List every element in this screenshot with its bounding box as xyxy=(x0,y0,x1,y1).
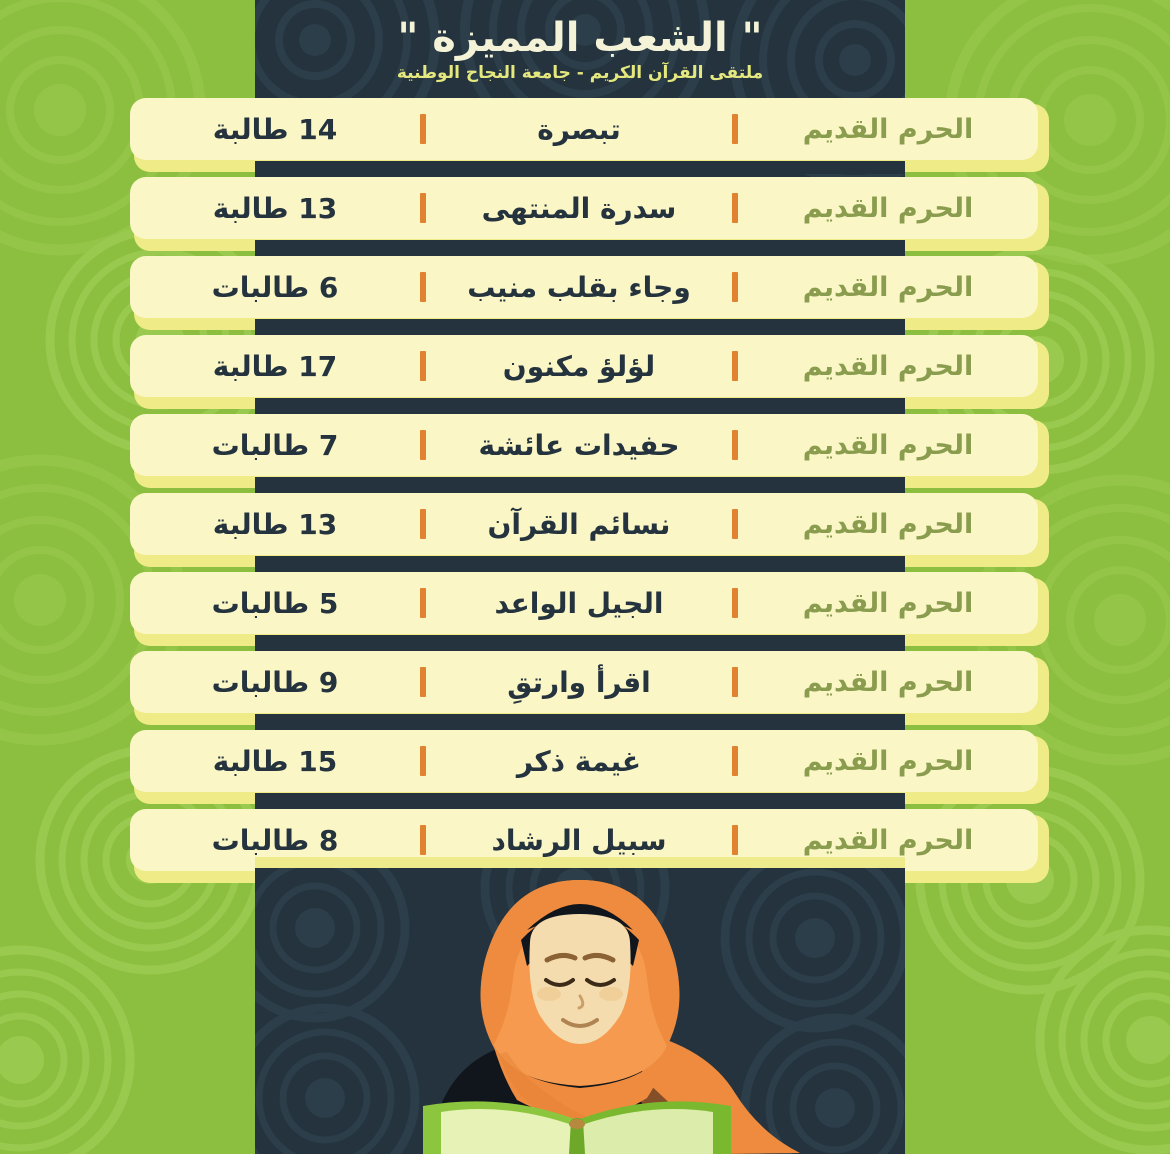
row-card[interactable]: الحرم القديمالجيل الواعد5 طالبات xyxy=(130,572,1045,640)
row-place: الحرم القديم xyxy=(738,430,1038,461)
row-card-face[interactable]: الحرم القديمالجيل الواعد5 طالبات xyxy=(130,572,1038,634)
row-divider xyxy=(255,398,905,411)
row-divider xyxy=(255,161,905,174)
table-row[interactable]: الحرم القديمتبصرة14 طالبة xyxy=(0,96,1170,175)
poster-root: " الشعب المميزة " ملتقى القرآن الكريم - … xyxy=(0,0,1170,1154)
row-place: الحرم القديم xyxy=(738,509,1038,540)
row-student-count: 7 طالبات xyxy=(130,429,420,462)
row-divider xyxy=(255,240,905,253)
page-subtitle: ملتقى القرآن الكريم - جامعة النجاح الوطن… xyxy=(397,63,763,83)
row-place: الحرم القديم xyxy=(738,667,1038,698)
row-group-name: لؤلؤ مكنون xyxy=(426,350,732,383)
column-separator-icon xyxy=(732,272,738,302)
column-separator-icon xyxy=(420,272,426,302)
column-separator-icon xyxy=(732,114,738,144)
row-card-face[interactable]: الحرم القديمنسائم القرآن13 طالبة xyxy=(130,493,1038,555)
row-divider xyxy=(255,793,905,806)
table-row[interactable]: الحرم القديمسدرة المنتهى13 طالبة xyxy=(0,175,1170,254)
table-row[interactable]: الحرم القديمنسائم القرآن13 طالبة xyxy=(0,491,1170,570)
column-separator-icon xyxy=(732,351,738,381)
row-place: الحرم القديم xyxy=(738,588,1038,619)
table-row[interactable]: الحرم القديموجاء بقلب منيب6 طالبات xyxy=(0,254,1170,333)
column-separator-icon xyxy=(420,114,426,144)
row-divider xyxy=(255,477,905,490)
row-student-count: 8 طالبات xyxy=(130,824,420,857)
column-separator-icon xyxy=(732,825,738,855)
row-group-name: نسائم القرآن xyxy=(426,508,732,541)
column-separator-icon xyxy=(732,588,738,618)
column-separator-icon xyxy=(420,351,426,381)
row-student-count: 15 طالبة xyxy=(130,745,420,778)
row-divider xyxy=(255,556,905,569)
row-card[interactable]: الحرم القديمتبصرة14 طالبة xyxy=(130,98,1045,166)
illustration-woman-reading xyxy=(255,868,905,1154)
row-card[interactable]: الحرم القديماقرأ وارتقِ9 طالبات xyxy=(130,651,1045,719)
page-title: " الشعب المميزة " xyxy=(398,17,763,59)
header: " الشعب المميزة " ملتقى القرآن الكريم - … xyxy=(255,0,905,96)
row-student-count: 17 طالبة xyxy=(130,350,420,383)
row-divider xyxy=(255,635,905,648)
row-group-name: اقرأ وارتقِ xyxy=(426,666,732,699)
column-separator-icon xyxy=(420,667,426,697)
row-group-name: سبيل الرشاد xyxy=(426,824,732,857)
row-divider xyxy=(255,319,905,332)
row-group-name: سدرة المنتهى xyxy=(426,192,732,225)
row-student-count: 13 طالبة xyxy=(130,192,420,225)
row-place: الحرم القديم xyxy=(738,746,1038,777)
row-place: الحرم القديم xyxy=(738,825,1038,856)
row-group-name: وجاء بقلب منيب xyxy=(426,271,732,304)
table-row[interactable]: الحرم القديمحفيدات عائشة7 طالبات xyxy=(0,412,1170,491)
row-student-count: 9 طالبات xyxy=(130,666,420,699)
column-separator-icon xyxy=(732,667,738,697)
row-card-face[interactable]: الحرم القديموجاء بقلب منيب6 طالبات xyxy=(130,256,1038,318)
row-card[interactable]: الحرم القديموجاء بقلب منيب6 طالبات xyxy=(130,256,1045,324)
row-place: الحرم القديم xyxy=(738,193,1038,224)
column-separator-icon xyxy=(420,509,426,539)
row-card-face[interactable]: الحرم القديمتبصرة14 طالبة xyxy=(130,98,1038,160)
row-student-count: 6 طالبات xyxy=(130,271,420,304)
table-row[interactable]: الحرم القديمالجيل الواعد5 طالبات xyxy=(0,570,1170,649)
row-student-count: 5 طالبات xyxy=(130,587,420,620)
row-group-name: غيمة ذكر xyxy=(426,745,732,778)
table-row[interactable]: الحرم القديملؤلؤ مكنون17 طالبة xyxy=(0,333,1170,412)
column-separator-icon xyxy=(732,746,738,776)
row-card-face[interactable]: الحرم القديماقرأ وارتقِ9 طالبات xyxy=(130,651,1038,713)
row-student-count: 13 طالبة xyxy=(130,508,420,541)
column-separator-icon xyxy=(420,430,426,460)
row-card[interactable]: الحرم القديمغيمة ذكر15 طالبة xyxy=(130,730,1045,798)
column-separator-icon xyxy=(732,430,738,460)
row-place: الحرم القديم xyxy=(738,114,1038,145)
column-separator-icon xyxy=(420,588,426,618)
row-place: الحرم القديم xyxy=(738,351,1038,382)
row-card[interactable]: الحرم القديمسدرة المنتهى13 طالبة xyxy=(130,177,1045,245)
row-card[interactable]: الحرم القديملؤلؤ مكنون17 طالبة xyxy=(130,335,1045,403)
row-card-face[interactable]: الحرم القديمغيمة ذكر15 طالبة xyxy=(130,730,1038,792)
illustration-top-strip xyxy=(255,857,905,868)
row-card[interactable]: الحرم القديمنسائم القرآن13 طالبة xyxy=(130,493,1045,561)
table-row[interactable]: الحرم القديمغيمة ذكر15 طالبة xyxy=(0,728,1170,807)
column-separator-icon xyxy=(732,509,738,539)
row-card-face[interactable]: الحرم القديمحفيدات عائشة7 طالبات xyxy=(130,414,1038,476)
row-card-face[interactable]: الحرم القديملؤلؤ مكنون17 طالبة xyxy=(130,335,1038,397)
column-separator-icon xyxy=(420,193,426,223)
column-separator-icon xyxy=(732,193,738,223)
row-place: الحرم القديم xyxy=(738,272,1038,303)
column-separator-icon xyxy=(420,746,426,776)
rows-list: الحرم القديمتبصرة14 طالبةالحرم القديمسدر… xyxy=(0,96,1170,886)
row-group-name: حفيدات عائشة xyxy=(426,429,732,462)
row-card[interactable]: الحرم القديمحفيدات عائشة7 طالبات xyxy=(130,414,1045,482)
row-group-name: تبصرة xyxy=(426,113,732,146)
row-divider xyxy=(255,714,905,727)
table-row[interactable]: الحرم القديماقرأ وارتقِ9 طالبات xyxy=(0,649,1170,728)
row-student-count: 14 طالبة xyxy=(130,113,420,146)
row-group-name: الجيل الواعد xyxy=(426,587,732,620)
row-card-face[interactable]: الحرم القديمسدرة المنتهى13 طالبة xyxy=(130,177,1038,239)
column-separator-icon xyxy=(420,825,426,855)
